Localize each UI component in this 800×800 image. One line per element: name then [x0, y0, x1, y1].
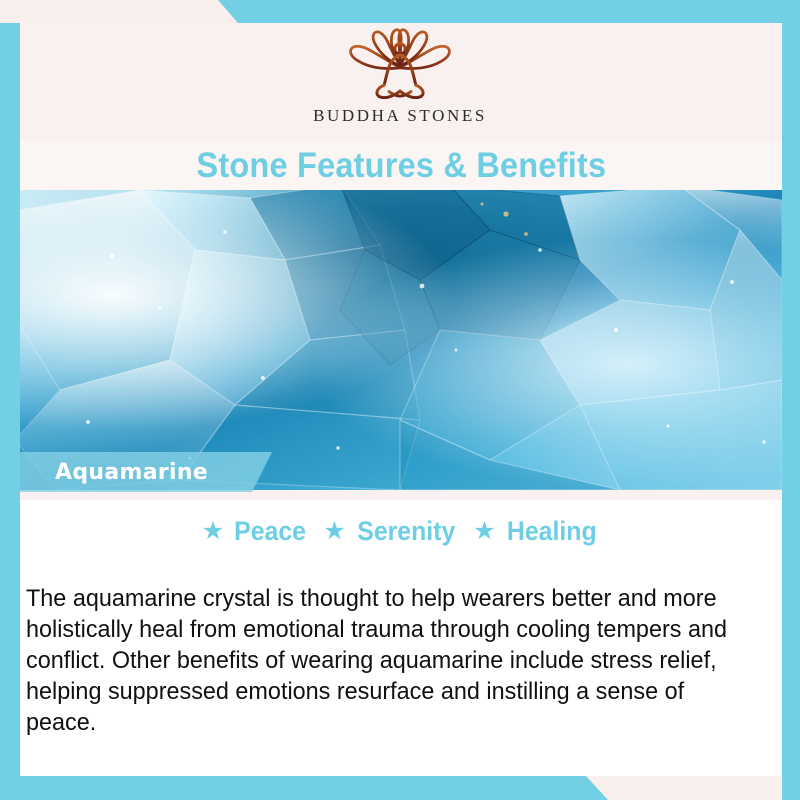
page-title: Stone Features & Benefits — [196, 146, 606, 186]
keyword-label: Healing — [507, 516, 597, 547]
hero-crystal-image — [20, 190, 782, 490]
frame-top-accent-bar — [0, 0, 800, 23]
keyword-item-peace: ★ Peace — [202, 516, 310, 547]
keyword-label: Serenity — [357, 516, 455, 547]
keyword-item-healing: ★ Healing — [473, 516, 600, 547]
star-icon: ★ — [202, 519, 224, 544]
infographic-page: BUDDHA STONES Stone Features & Benefits — [0, 0, 800, 800]
description-paragraph: The aquamarine crystal is thought to hel… — [26, 583, 744, 738]
lotus-meditation-figure-icon — [325, 22, 475, 104]
page-title-band: Stone Features & Benefits — [20, 141, 782, 190]
aquamarine-crystal-illustration — [20, 190, 782, 490]
stone-name: Aquamarine — [55, 460, 208, 485]
hero-caption-banner: Aquamarine — [20, 452, 272, 492]
brand-name: BUDDHA STONES — [313, 106, 487, 126]
star-icon: ★ — [473, 519, 495, 544]
brand-logo: BUDDHA STONES — [0, 22, 800, 142]
keyword-list: ★ Peace ★ Serenity ★ Healing — [20, 512, 782, 550]
frame-bottom-accent-bar — [0, 776, 800, 800]
star-icon: ★ — [323, 519, 345, 544]
keyword-label: Peace — [234, 516, 306, 547]
keyword-item-serenity: ★ Serenity — [323, 516, 459, 547]
